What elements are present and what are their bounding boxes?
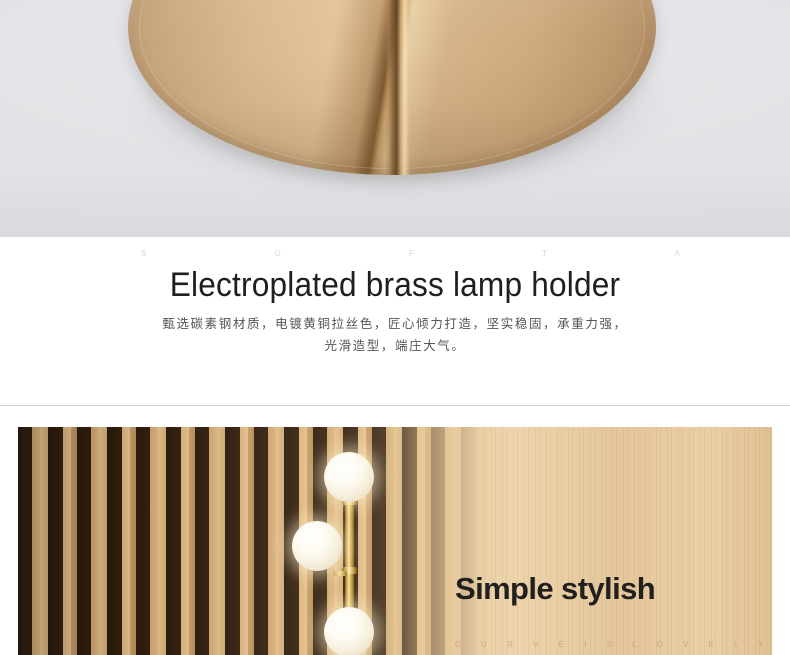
- lamp-globe-top: [324, 452, 374, 502]
- lamp-globe-bottom: [324, 607, 374, 655]
- product-detail-page: S O F T A N D C Electroplated brass lamp…: [0, 0, 790, 655]
- caption-band: S O F T A N D C Electroplated brass lamp…: [0, 237, 790, 405]
- caption-chinese-line-2: 光滑造型，端庄大气。: [0, 335, 790, 357]
- caption-ghost-letters: S O F T A N D C: [0, 249, 790, 258]
- room-overlay-title: Simple stylish: [455, 572, 655, 606]
- brass-stem-reflection: [385, 0, 411, 175]
- caption-chinese-description: 甄选碳素钢材质，电镀黄铜拉丝色，匠心倾力打造，坚实稳固，承重力强， 光滑造型，端…: [0, 313, 790, 357]
- brass-globe-floor-lamp: [300, 455, 420, 655]
- room-overlay-ghost-letters: C U R V E I S L O V E L Y: [455, 640, 773, 649]
- section-divider: [0, 405, 790, 406]
- caption-headline: Electroplated brass lamp holder: [28, 262, 763, 308]
- lamp-globe-middle: [292, 521, 342, 571]
- lamp-arm: [333, 571, 347, 576]
- hero-product-photo: [0, 0, 790, 237]
- caption-chinese-line-1: 甄选碳素钢材质，电镀黄铜拉丝色，匠心倾力打造，坚实稳固，承重力强，: [162, 317, 627, 331]
